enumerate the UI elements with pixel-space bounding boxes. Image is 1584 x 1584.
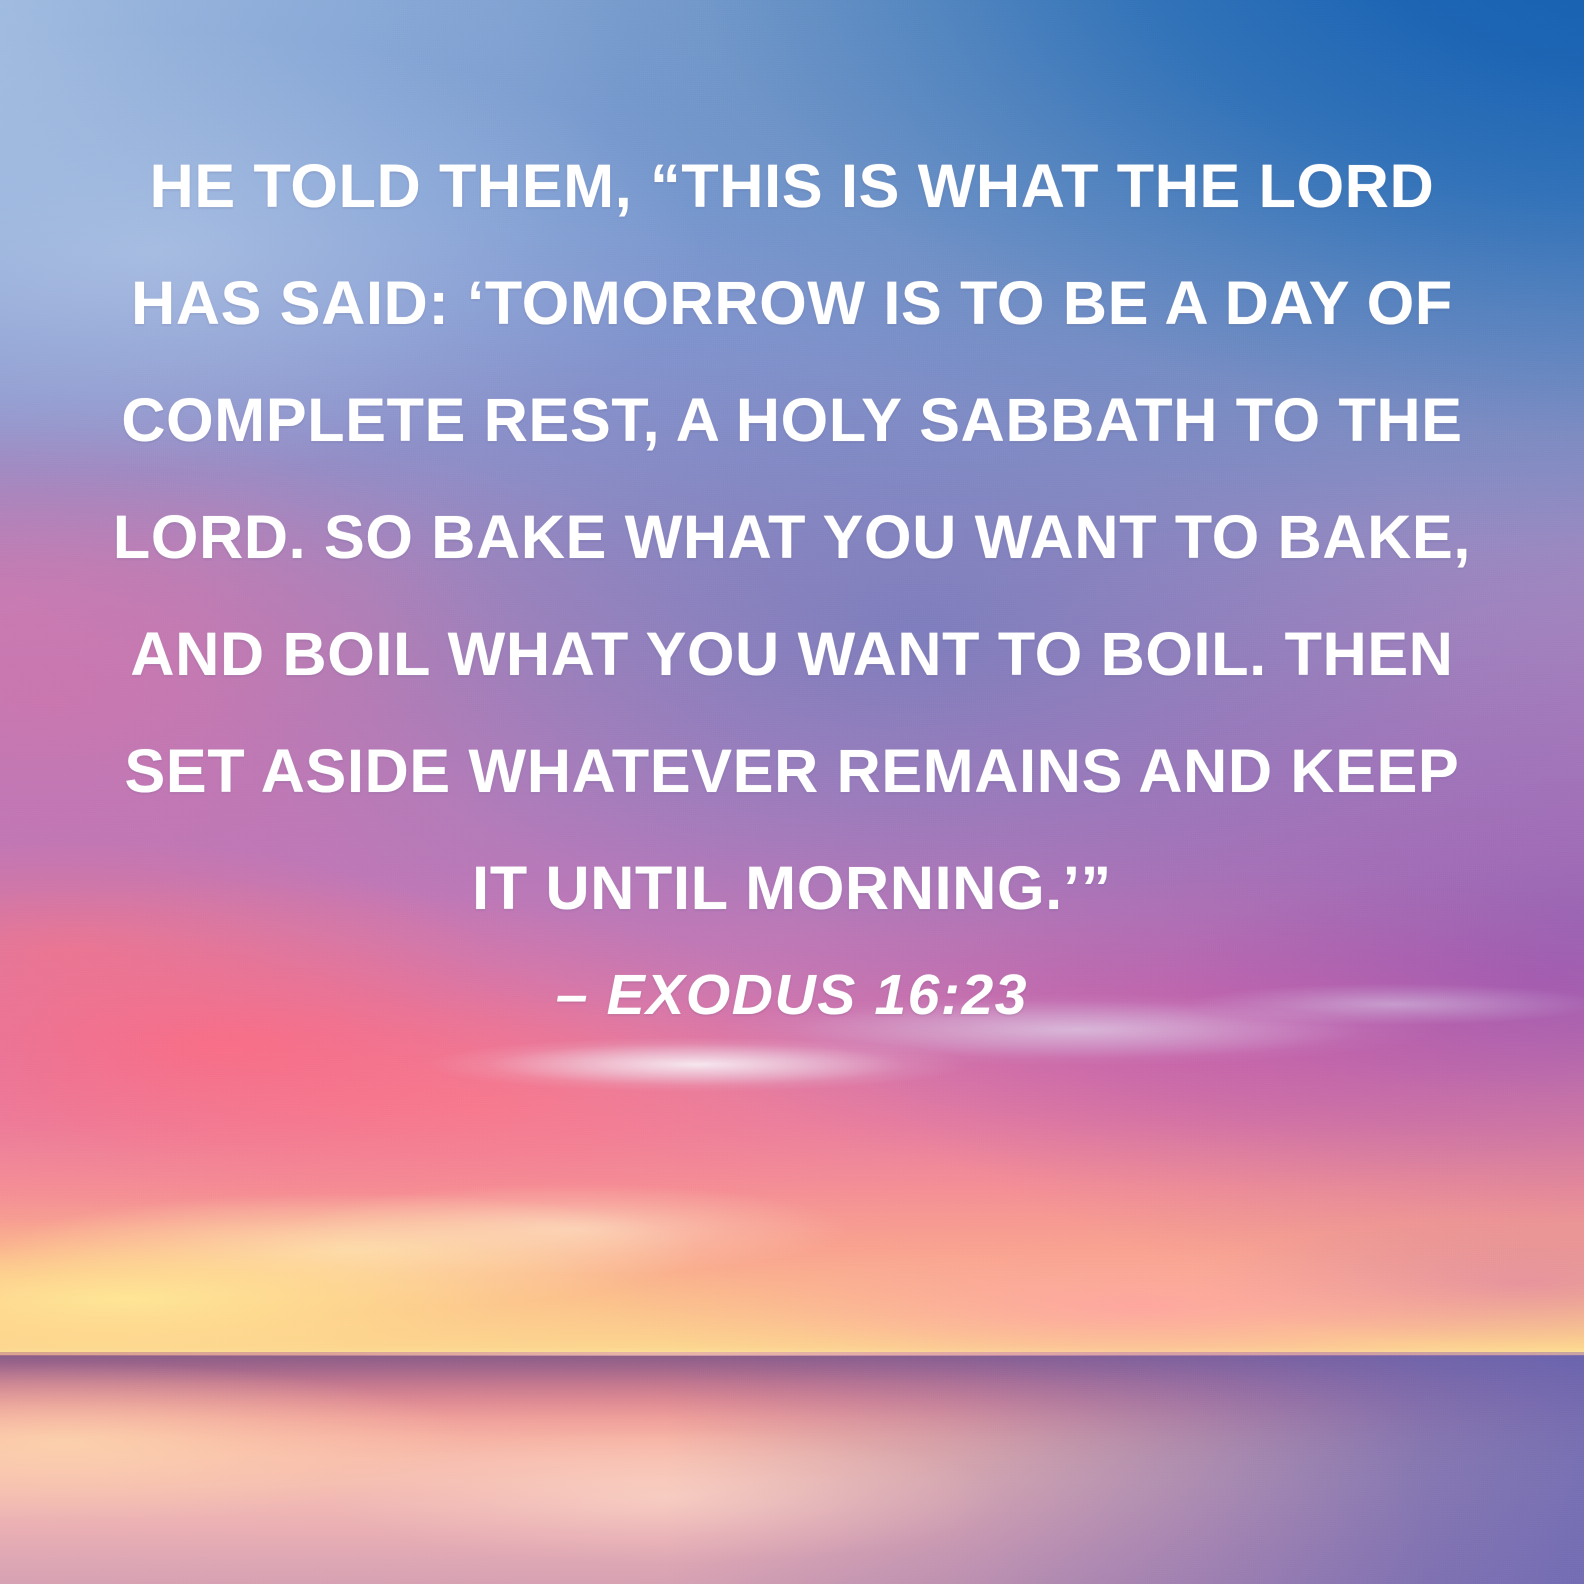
- quote-image-canvas: HE TOLD THEM, “THIS IS WHAT THE LORD HAS…: [0, 0, 1584, 1584]
- verse-attribution: – EXODUS 16:23: [0, 962, 1584, 1028]
- ocean-sun-reflection: [0, 1355, 1584, 1584]
- quote-line: IT UNTIL MORNING.’”: [72, 830, 1512, 947]
- horizon-line: [0, 1352, 1584, 1356]
- quote-line: COMPLETE REST, A HOLY SABBATH TO THE: [72, 362, 1512, 479]
- quote-line: HE TOLD THEM, “THIS IS WHAT THE LORD: [72, 128, 1512, 245]
- quote-line: AND BOIL WHAT YOU WANT TO BOIL. THEN: [72, 596, 1512, 713]
- quote-line: LORD. SO BAKE WHAT YOU WANT TO BAKE,: [72, 479, 1512, 596]
- quote-line: SET ASIDE WHATEVER REMAINS AND KEEP: [72, 713, 1512, 830]
- quote-line: HAS SAID: ‘TOMORROW IS TO BE A DAY OF: [72, 245, 1512, 362]
- scripture-quote-text: HE TOLD THEM, “THIS IS WHAT THE LORD HAS…: [0, 128, 1584, 947]
- verse-reference-label: – EXODUS 16:23: [556, 963, 1028, 1027]
